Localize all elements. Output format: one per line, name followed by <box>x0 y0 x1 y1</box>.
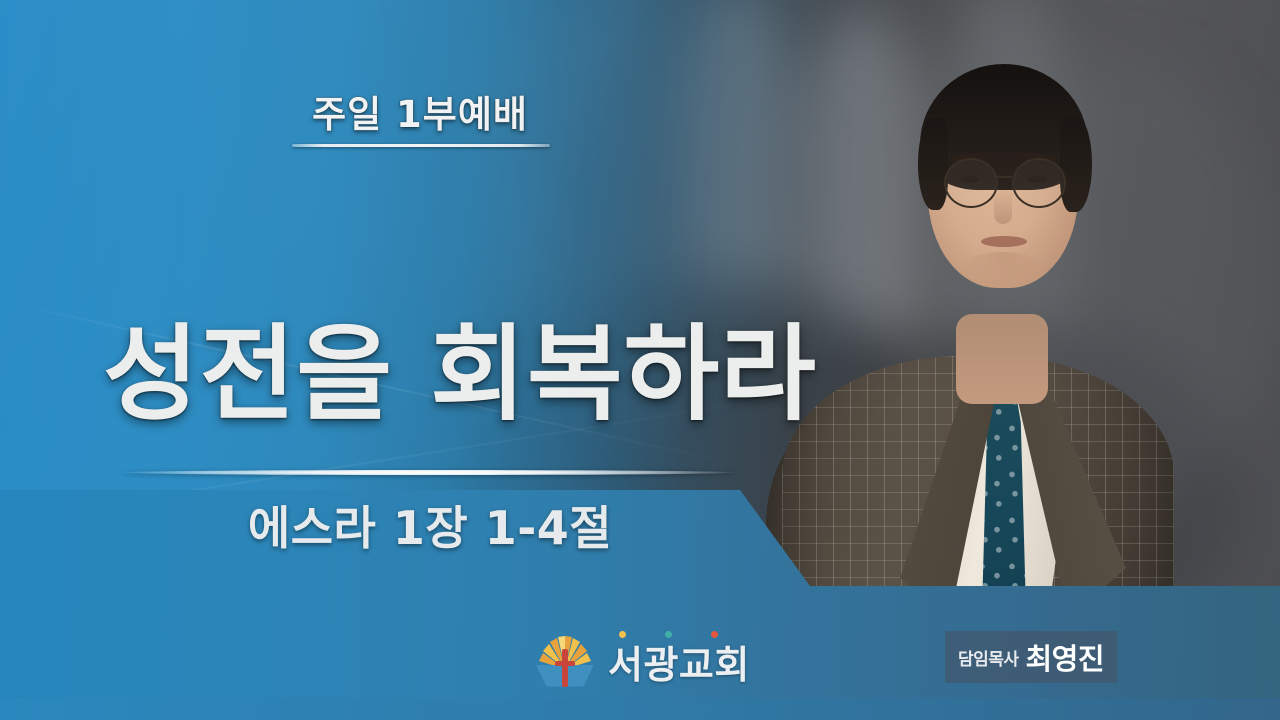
logo-dot-yellow <box>619 631 626 638</box>
mouth <box>981 236 1027 247</box>
scripture-reference: 에스라 1장 1-4절 <box>0 492 860 558</box>
nose <box>994 188 1012 224</box>
pastor-role-label: 담임목사 <box>958 645 1019 670</box>
church-logo: 서광교회 <box>534 634 750 689</box>
kicker-underline <box>292 144 550 147</box>
church-name-text: 서광교회 <box>608 643 750 687</box>
service-kicker: 주일 1부예배 <box>0 84 840 138</box>
sunrise-cross-emblem-icon <box>534 635 596 689</box>
pastor-nameplate: 담임목사 최영진 <box>945 631 1117 683</box>
sermon-title: 성전을 회복하라 <box>0 318 920 430</box>
logo-dot-red <box>711 631 718 638</box>
cross-icon <box>555 661 575 666</box>
sermon-title-slide: 주일 1부예배 성전을 회복하라 에스라 1장 1-4절 <box>0 0 1280 720</box>
chin-shading <box>960 252 1046 290</box>
hair <box>1060 116 1092 212</box>
eyeglasses-icon <box>994 176 1012 178</box>
eyeglasses-icon <box>1012 158 1066 208</box>
cross-icon <box>562 649 568 687</box>
hair <box>918 118 948 210</box>
pastor-name-label: 최영진 <box>1026 636 1105 678</box>
church-wordmark: 서광교회 <box>608 634 750 689</box>
bottom-accent-strip <box>0 698 1280 720</box>
eyeglasses-icon <box>944 158 998 208</box>
logo-dot-teal <box>665 631 672 638</box>
title-divider <box>122 470 738 475</box>
neck <box>956 314 1048 404</box>
